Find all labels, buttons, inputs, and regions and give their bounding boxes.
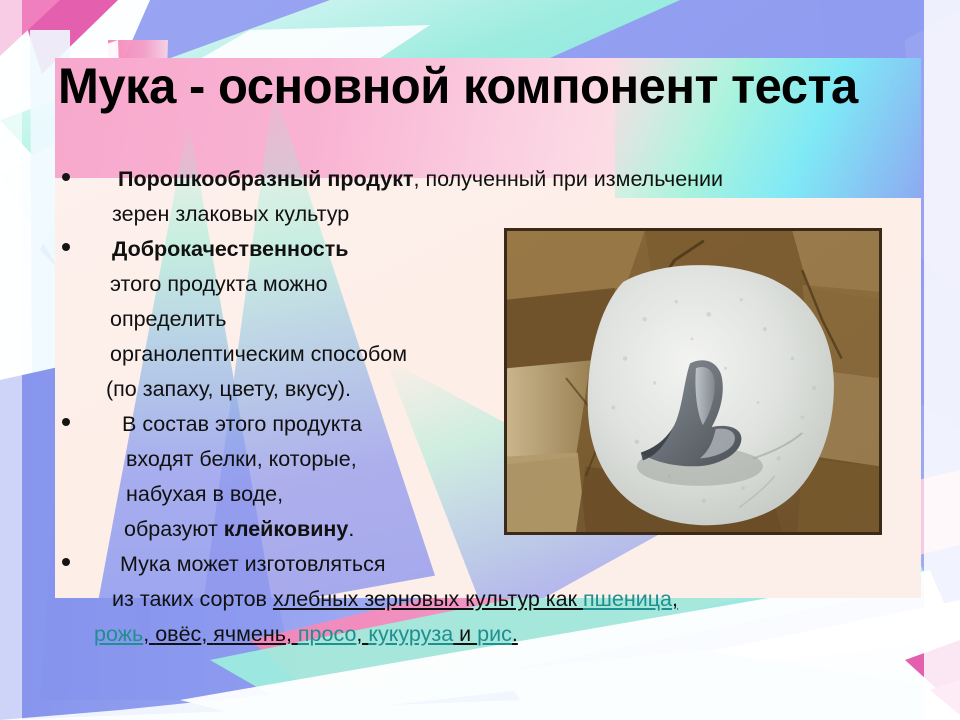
underlined-text: , [286,622,298,646]
body-text: образуют [124,517,224,541]
hyperlink[interactable]: кукуруза [368,622,453,646]
list-item: Порошкообразный продукт, полученный при … [56,162,936,232]
bullet-dot-icon [62,173,70,181]
list-item-line: Порошкообразный продукт, полученный при … [56,162,936,197]
bullet-dot-icon [62,558,70,566]
body-text: , полученный при измельчении [414,167,724,191]
underlined-text: , [143,622,155,646]
underlined-text: овёс [155,622,201,646]
underlined-text: , [356,622,368,646]
body-text: набухая в воде, [126,482,283,506]
body-text: этого продукта можно [110,272,328,296]
flour-photo-illustration [507,231,879,532]
underlined-text: ячмень [213,622,286,646]
hyperlink[interactable]: рис [477,622,512,646]
hyperlink[interactable]: рожь [94,622,143,646]
list-item-line: рожь, овёс, ячмень, просо, кукуруза и ри… [56,617,936,652]
list-item: Мука может изготовлятьсяиз таких сортов … [56,547,936,652]
body-text: (по запаху, цвету, вкусу). [106,377,351,401]
underlined-text: . [512,622,518,646]
bullet-dot-icon [62,418,70,426]
underlined-text: , [672,587,678,611]
bullet-dot-icon [62,243,70,251]
underlined-text: хлебных зерновых культур как [273,587,583,611]
body-text: входят белки, которые, [126,447,357,471]
emphasized-text: клейковину [224,517,349,541]
body-text: определить [110,307,226,331]
list-item-line: зерен злаковых культур [56,197,936,232]
underlined-text: , [201,622,213,646]
hyperlink[interactable]: пшеница [583,587,672,611]
body-text: Мука может изготовляться [120,552,386,576]
presentation-slide: Мука - основной компонент теста Порошкоо… [0,0,960,720]
slide-title: Мука - основной компонент теста [58,56,920,116]
list-item-line: Мука может изготовляться [56,547,936,582]
hyperlink[interactable]: просо [298,622,357,646]
body-text: В состав этого продукта [122,412,362,436]
body-text: зерен злаковых культур [112,202,349,226]
list-item-line: из таких сортов хлебных зерновых культур… [56,582,936,617]
body-text: из таких сортов [112,587,273,611]
emphasized-text: Порошкообразный продукт [118,167,414,191]
flour-sack-photo [504,228,882,535]
body-text: органолептическим способом [110,342,407,366]
body-text: . [348,517,354,541]
emphasized-text: Доброкачественность [112,237,349,261]
underlined-text: и [453,622,477,646]
